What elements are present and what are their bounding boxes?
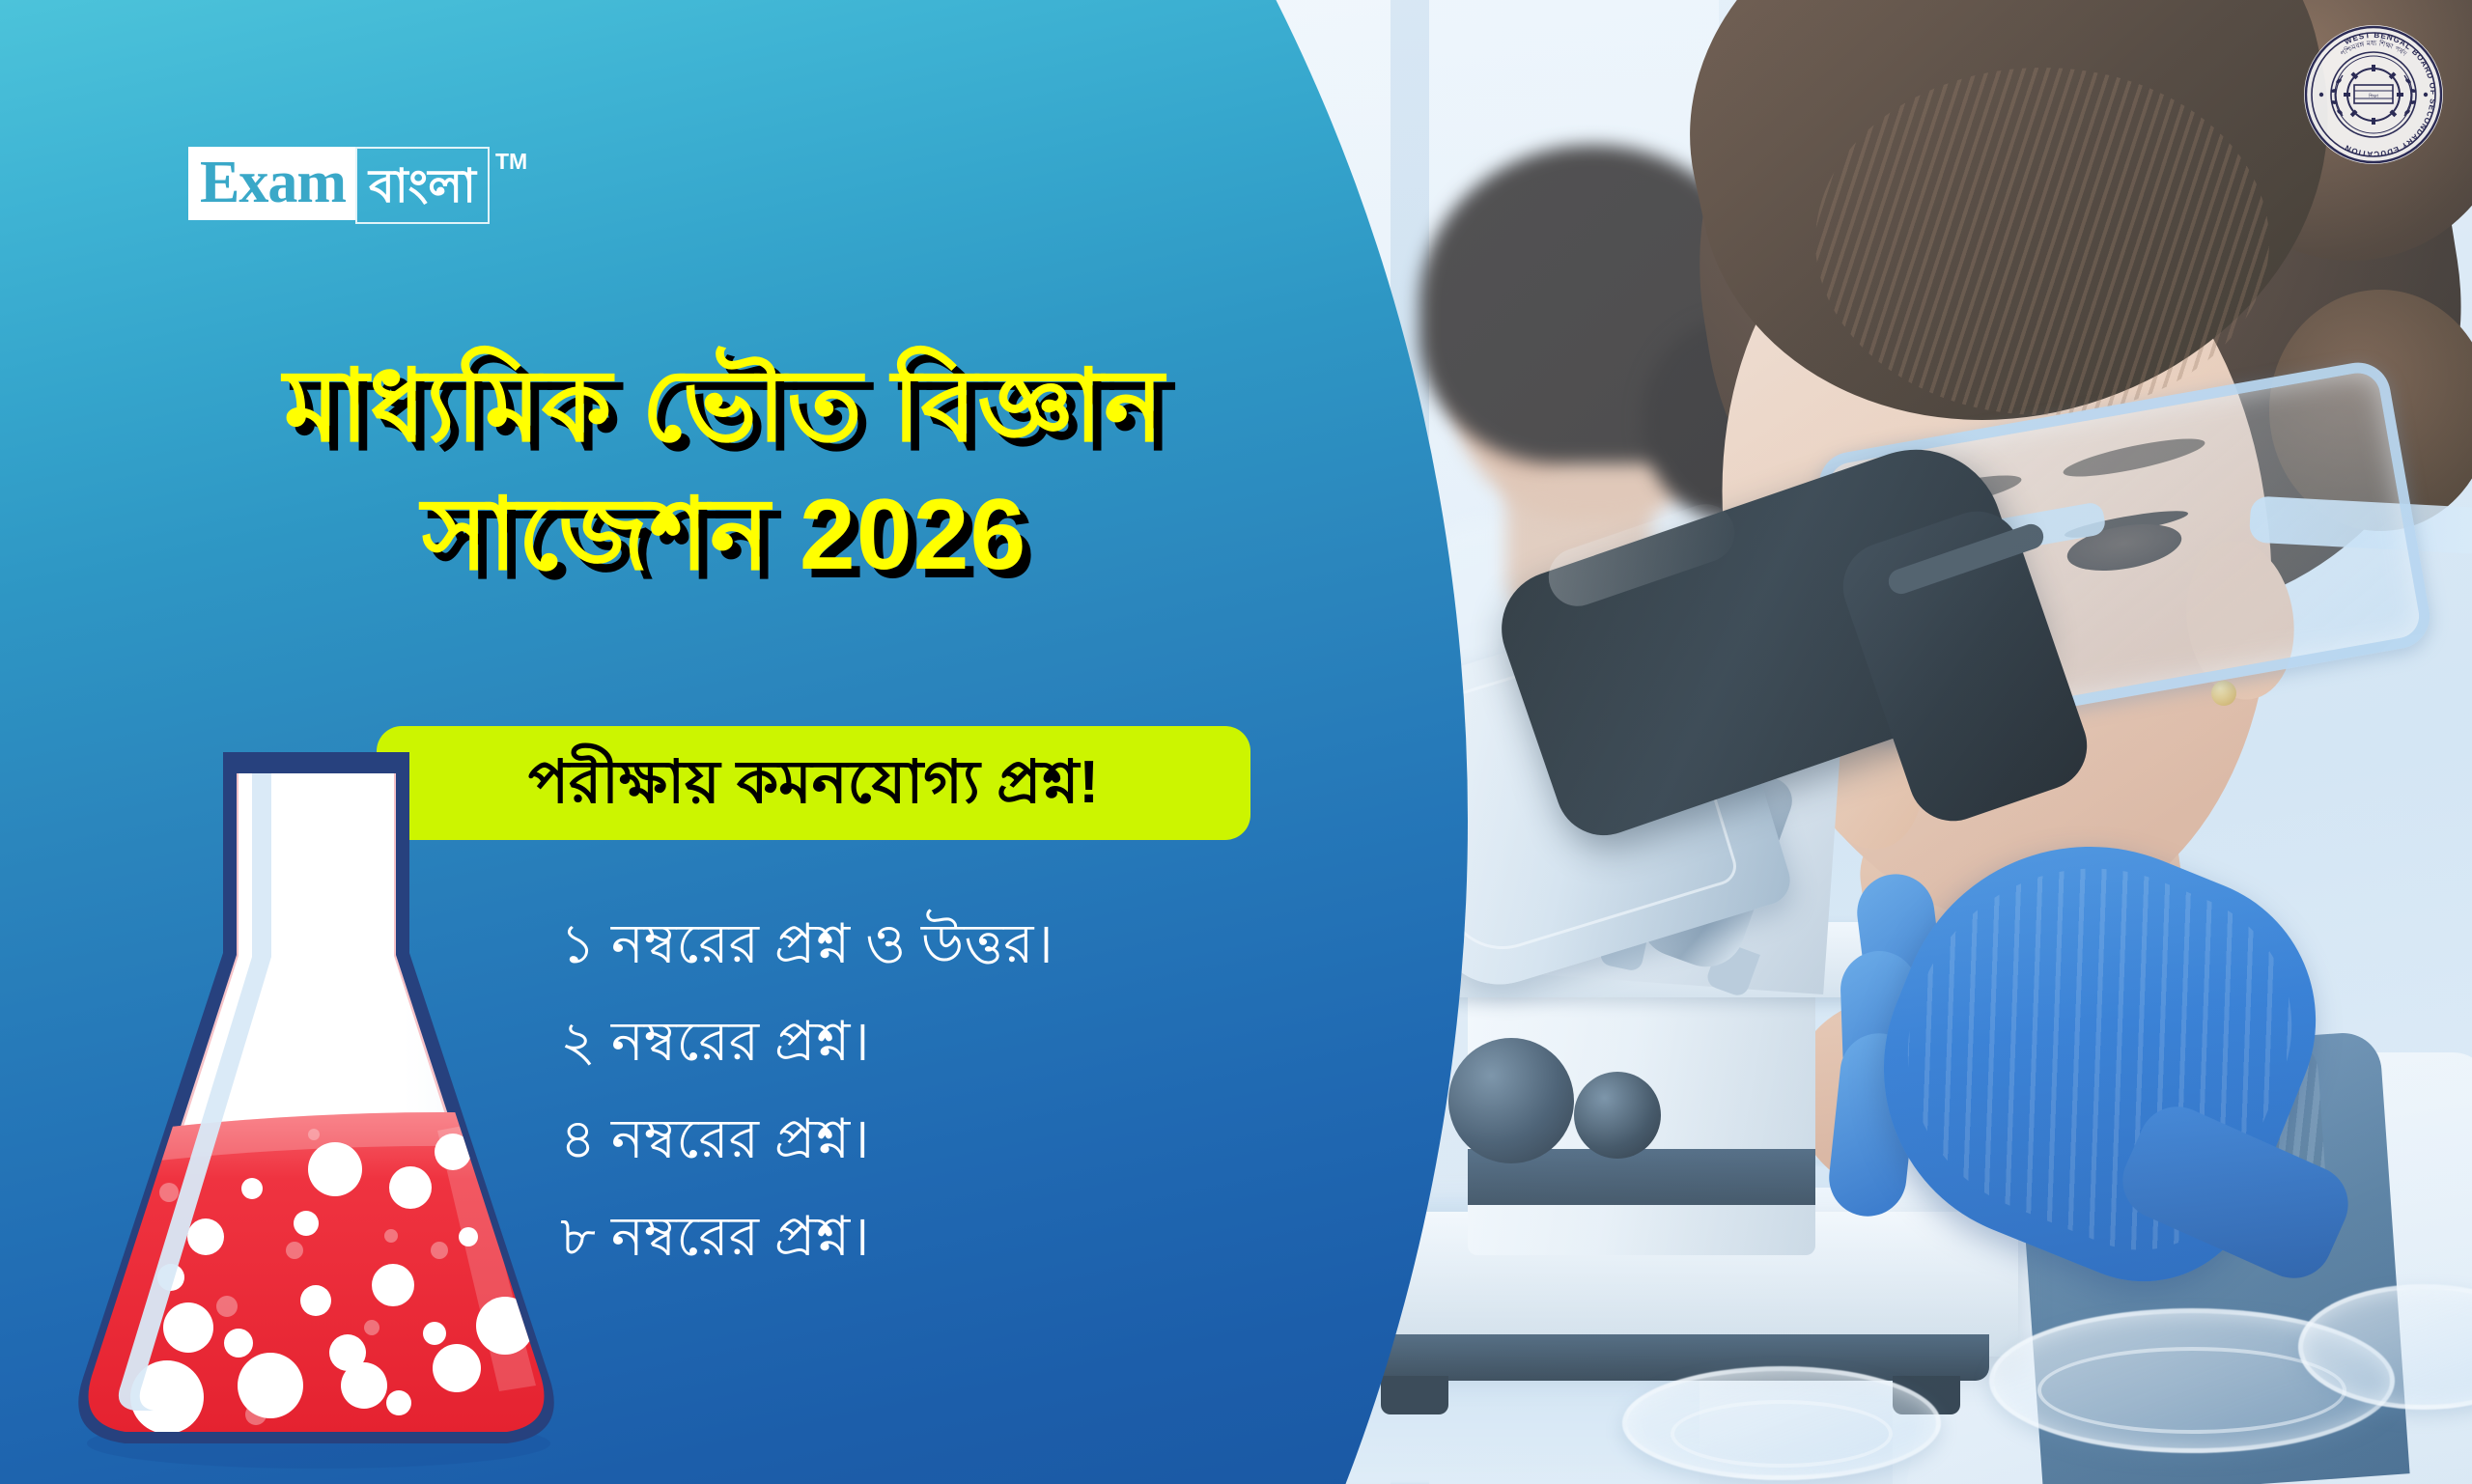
list-item: ২ নম্বরের প্রশ্ন। <box>560 1015 1429 1070</box>
erlenmeyer-flask-icon <box>53 710 579 1472</box>
microscope-base-band <box>1352 1334 1989 1381</box>
title-line-2: সাজেশন 2026 <box>106 471 1342 600</box>
scientist-earring <box>2211 681 2236 706</box>
logo-word-bangla: বাংলা <box>355 147 490 224</box>
list-item: ৮ নম্বরের প্রশ্ন। <box>560 1210 1429 1265</box>
petri-dish-rim <box>1671 1400 1893 1468</box>
wbbse-seal-icon: WEST BENGAL BOARD OF SECONDARY EDUCATION… <box>2300 21 2447 168</box>
list-item: ৪ নম্বরের প্রশ্ন। <box>560 1112 1429 1167</box>
poster-canvas: Exam বাংলা TM মাধ্যমিক ভৌত বিজ্ঞান সাজেশ… <box>0 0 2472 1484</box>
list-item: ১ নম্বরের প্রশ্ন ও উত্তর। <box>560 917 1429 972</box>
feature-list: ১ নম্বরের প্রশ্ন ও উত্তর। ২ নম্বরের প্রশ… <box>560 917 1429 1307</box>
microscope-foot <box>1381 1376 1448 1414</box>
scientist-hair-strands <box>1815 68 2269 415</box>
badge-label: পরীক্ষায় কমনযোগ্য প্রশ্ন! <box>528 753 1099 813</box>
svg-text:শিক্ষা: শিক্ষা <box>2368 94 2378 99</box>
microscope-fine-knob <box>1574 1072 1661 1159</box>
microscope-focus-knob <box>1448 1038 1574 1163</box>
trademark-symbol: TM <box>495 149 527 175</box>
page-title: মাধ্যমিক ভৌত বিজ্ঞান সাজেশন 2026 <box>106 343 1342 600</box>
exambangla-logo[interactable]: Exam বাংলা TM <box>188 147 527 224</box>
title-line-1: মাধ্যমিক ভৌত বিজ্ঞান <box>284 350 1165 462</box>
logo-word-exam: Exam <box>188 147 355 220</box>
